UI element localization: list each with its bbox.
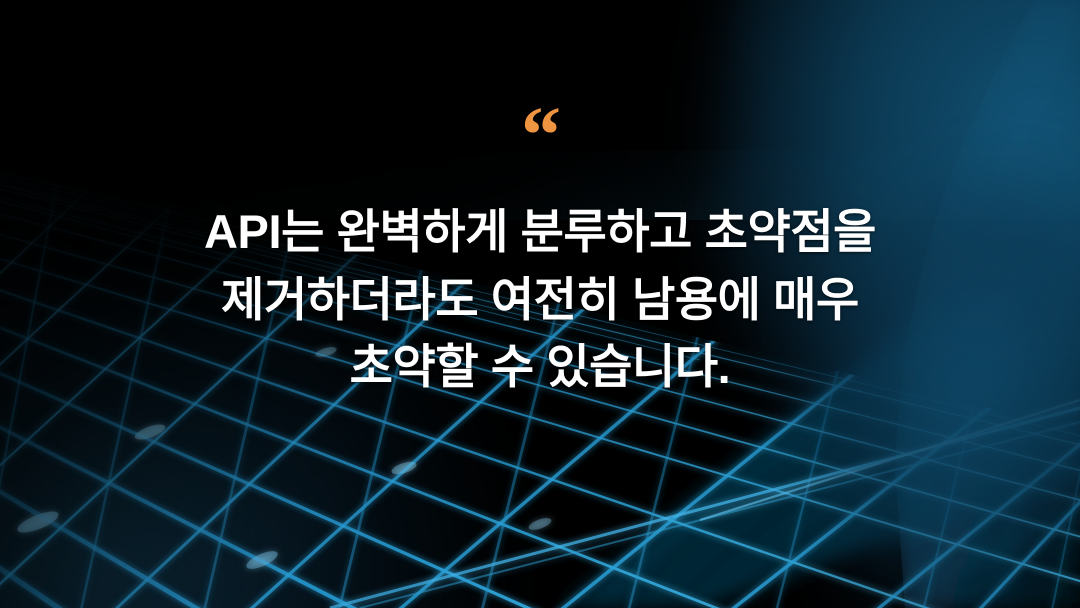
quote-mark-icon: “ [0, 112, 1080, 170]
quote-block: “ API는 완벽하게 분루하고 초약점을 제거하더라도 여전히 남용에 매우 … [0, 112, 1080, 401]
quote-line-3: 초약할 수 있습니다. [90, 333, 990, 401]
quote-line-2: 제거하더라도 여전히 남용에 매우 [90, 266, 990, 334]
horizon-streaks [330, 400, 1080, 608]
quote-line-1: API는 완벽하게 분루하고 초약점을 [90, 198, 990, 266]
quote-text: API는 완벽하게 분루하고 초약점을 제거하더라도 여전히 남용에 매우 초약… [0, 198, 1080, 401]
quote-slide: “ API는 완벽하게 분루하고 초약점을 제거하더라도 여전히 남용에 매우 … [0, 0, 1080, 608]
